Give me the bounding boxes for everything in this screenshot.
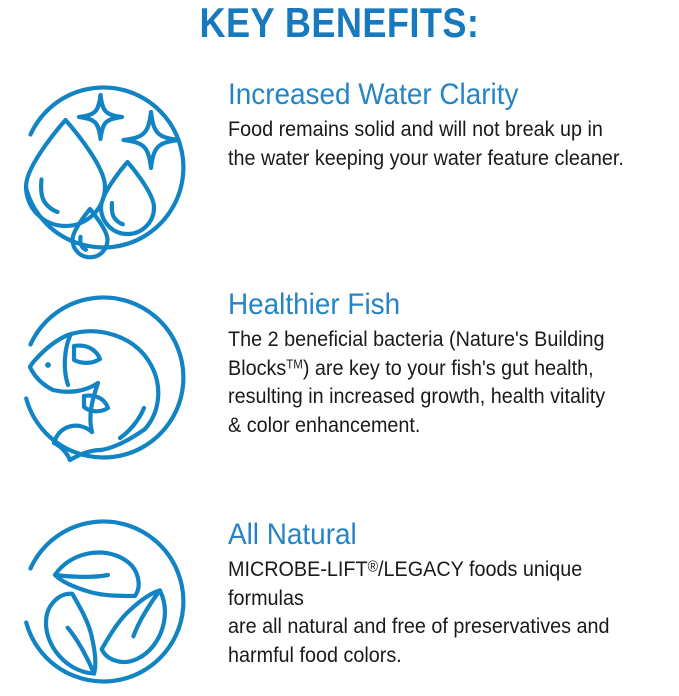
benefit-item-healthier-fish: Healthier Fish The 2 beneficial bacteria… — [0, 288, 679, 488]
benefit-body-line: MICROBE-LIFT — [228, 557, 368, 581]
benefit-icon-container — [0, 518, 228, 696]
registered-symbol: ® — [368, 559, 378, 576]
benefit-body-line: The 2 beneficial bacteria (Nature's Buil… — [228, 327, 605, 351]
benefit-body: MICROBE-LIFT®/LEGACY foods unique formul… — [228, 555, 637, 669]
benefit-body-line: resulting in increased growth, health vi… — [228, 384, 605, 408]
benefit-body: Food remains solid and will not break up… — [228, 115, 637, 172]
benefit-body-line: the water keeping your water feature cle… — [228, 146, 624, 170]
key-benefits-panel: KEY BENEFITS: — [0, 0, 679, 692]
benefit-heading: Healthier Fish — [228, 288, 642, 322]
benefit-text-container: Increased Water Clarity Food remains sol… — [228, 78, 679, 172]
benefit-body-line: Food remains solid and will not break up… — [228, 117, 603, 141]
benefit-heading: Increased Water Clarity — [228, 78, 642, 112]
benefit-body-line: ) are key to your fish's gut health, — [303, 356, 594, 380]
leaping-fish-icon — [8, 288, 198, 478]
benefit-body-line: Blocks — [228, 356, 286, 380]
page-title: KEY BENEFITS: — [47, 0, 631, 48]
benefit-body-line: & color enhancement. — [228, 413, 420, 437]
three-leaves-recycle-icon — [8, 518, 198, 696]
water-droplets-sparkle-icon — [8, 78, 198, 268]
benefit-item-water-clarity: Increased Water Clarity Food remains sol… — [0, 78, 679, 278]
benefit-heading: All Natural — [228, 518, 642, 552]
trademark-symbol: TM — [286, 357, 303, 371]
benefit-item-all-natural: All Natural MICROBE-LIFT®/LEGACY foods u… — [0, 518, 679, 693]
benefit-icon-container — [0, 288, 228, 478]
benefit-icon-container — [0, 78, 228, 268]
benefit-body: The 2 beneficial bacteria (Nature's Buil… — [228, 325, 637, 439]
benefit-body-line: harmful food colors. — [228, 643, 402, 667]
benefit-text-container: All Natural MICROBE-LIFT®/LEGACY foods u… — [228, 518, 679, 669]
benefit-text-container: Healthier Fish The 2 beneficial bacteria… — [228, 288, 679, 439]
benefit-body-line: are all natural and free of preservative… — [228, 614, 610, 638]
